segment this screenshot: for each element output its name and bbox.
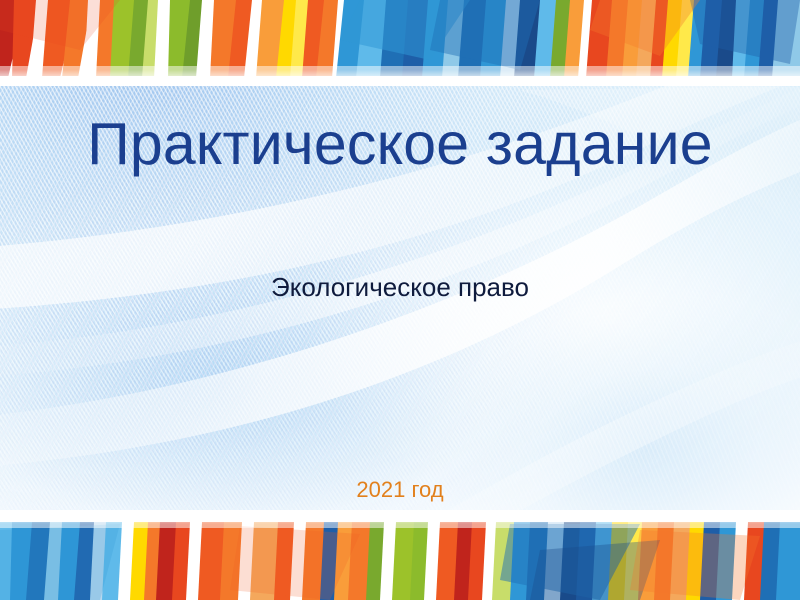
presentation-slide: Практическое задание Экологическое право… [0,0,800,600]
bottom-decorative-band [0,510,800,600]
top-decorative-band [0,0,800,86]
bottom-band-shards [0,510,800,600]
slide-title: Практическое задание [0,108,800,180]
slide-subtitle: Экологическое право [0,270,800,304]
top-band-shards [0,0,800,86]
slide-year: 2021 год [0,476,800,504]
